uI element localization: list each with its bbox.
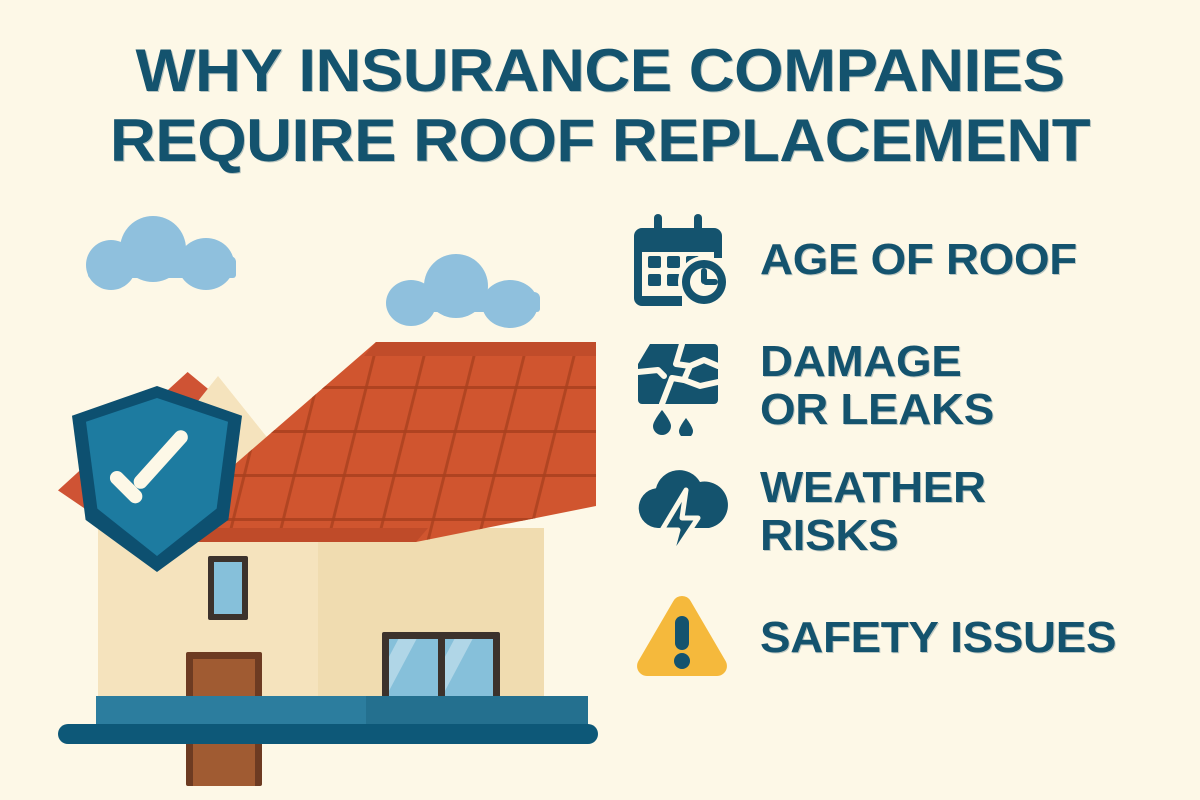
reasons-list: AGE OF ROOF — [630, 205, 1170, 709]
list-item-damage-or-leaks[interactable]: DAMAGE OR LEAKS — [630, 331, 1170, 441]
title-line-2: REQUIRE ROOF REPLACEMENT — [0, 106, 1200, 176]
storm-cloud-lightning-icon — [630, 460, 734, 564]
calendar-clock-icon — [630, 208, 734, 312]
list-item-safety-issues[interactable]: SAFETY ISSUES — [630, 583, 1170, 693]
title-line-1: WHY INSURANCE COMPANIES — [0, 36, 1200, 106]
list-item-label: SAFETY ISSUES — [760, 614, 1116, 662]
roof-tile-row — [196, 430, 596, 433]
roof-tile-row — [196, 386, 596, 389]
tiled-roof — [196, 342, 596, 542]
roof-tile-col — [361, 342, 439, 542]
protection-shield-icon — [72, 386, 242, 572]
roof-tile-col — [511, 342, 589, 542]
roof-tile-col — [461, 342, 539, 542]
list-item-label: WEATHER RISKS — [760, 464, 986, 560]
warning-triangle-icon — [630, 586, 734, 690]
roof-tile-col — [261, 342, 339, 542]
checkmark-icon — [110, 448, 202, 498]
insured-house-illustration — [50, 200, 610, 770]
house-platform-right — [366, 696, 588, 726]
roof-tile-row — [196, 518, 596, 521]
house-graphic — [50, 280, 610, 750]
list-item-label: AGE OF ROOF — [760, 236, 1077, 284]
roof-eave — [196, 528, 596, 542]
cloud-icon-left — [86, 216, 242, 278]
list-item-age-of-roof[interactable]: AGE OF ROOF — [630, 205, 1170, 315]
house-platform-left — [96, 696, 366, 726]
cracked-roof-leak-icon — [630, 334, 734, 438]
cloud-base — [88, 256, 236, 278]
roof-ridge-cap — [196, 342, 596, 356]
roof-tile-pattern — [196, 342, 596, 542]
list-item-label: DAMAGE OR LEAKS — [760, 338, 994, 434]
page-title: WHY INSURANCE COMPANIES REQUIRE ROOF REP… — [0, 36, 1200, 176]
roof-tile-col — [311, 342, 389, 542]
infographic-poster: WHY INSURANCE COMPANIES REQUIRE ROOF REP… — [0, 0, 1200, 800]
roof-tile-col — [411, 342, 489, 542]
ground-bar — [58, 724, 598, 744]
list-item-weather-risks[interactable]: WEATHER RISKS — [630, 457, 1170, 567]
